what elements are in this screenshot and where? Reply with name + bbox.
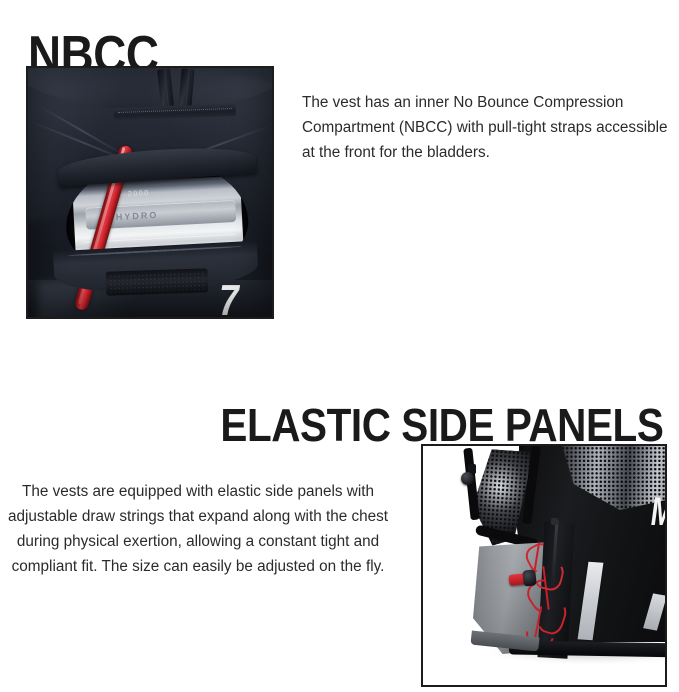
section-body-nbcc: The vest has an inner No Bounce Compress… — [302, 90, 679, 165]
vest-drop-shadow — [493, 650, 665, 662]
elastic-photo-canvas: M — [423, 446, 665, 685]
nbcc-compartment-photo: 2000 HYDRO 7 — [26, 66, 274, 319]
zipper-pull — [551, 518, 558, 525]
velcro-closure-strip — [106, 268, 209, 296]
vest-brand-mark: M — [650, 494, 665, 530]
vest-logo-mark: 7 — [219, 279, 236, 317]
strap-adjuster-buckle — [461, 472, 474, 485]
cord-lock-knob — [522, 569, 537, 586]
bladder-label-upper: 2000 — [127, 188, 149, 198]
nbcc-photo-canvas: 2000 HYDRO 7 — [28, 68, 272, 317]
elastic-side-panel-photo: M — [421, 444, 667, 687]
section-heading-elastic-side-panels: ELASTIC SIDE PANELS — [220, 402, 663, 448]
section-body-elastic-side-panels: The vests are equipped with elastic side… — [2, 479, 394, 579]
